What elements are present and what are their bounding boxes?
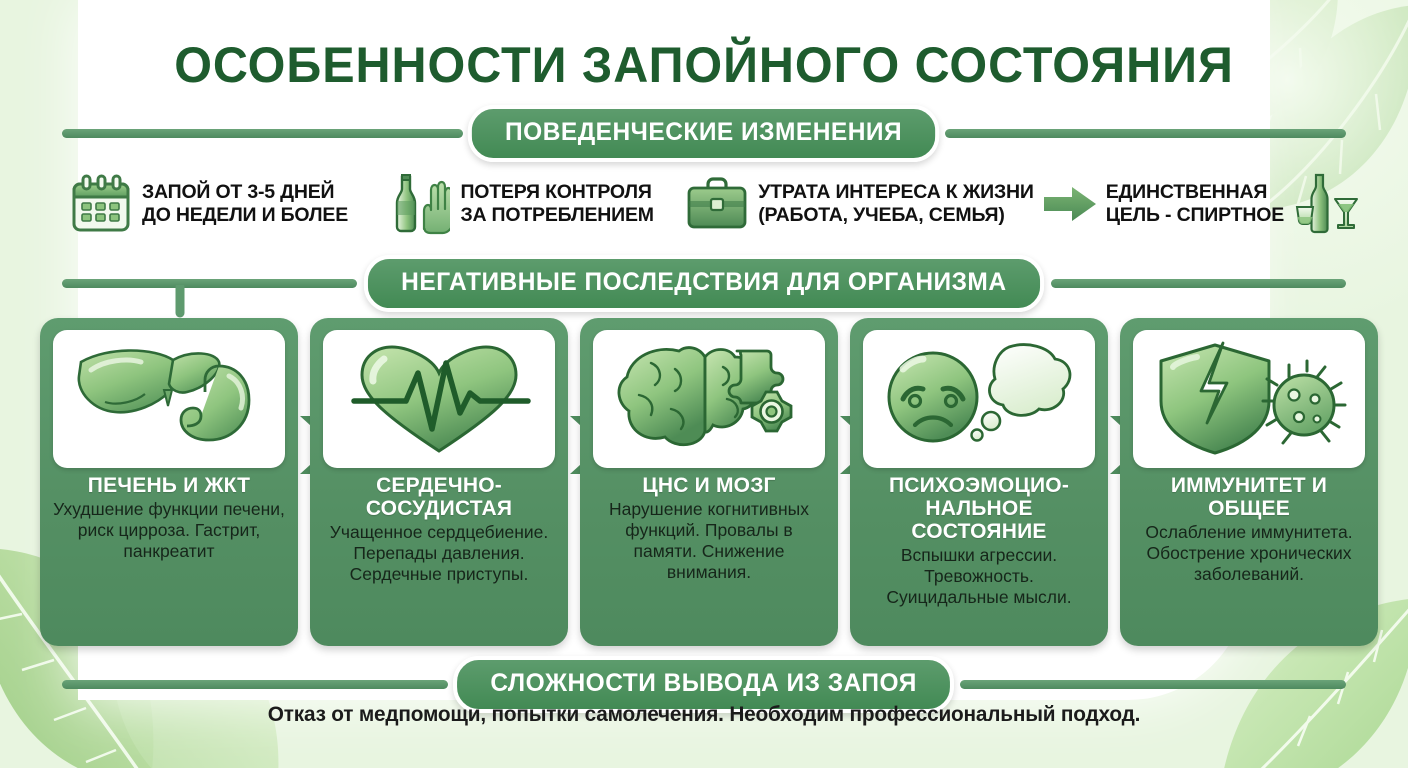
behavioral-item-1-text: ПОТЕРЯ КОНТРОЛЯ ЗА ПОТРЕБЛЕНИЕМ — [460, 181, 653, 227]
behavioral-item-1-line2: ЗА ПОТРЕБЛЕНИЕМ — [460, 204, 653, 227]
card-4-thumb — [1133, 330, 1365, 468]
card-3-thumb — [863, 330, 1095, 468]
rail-left-2 — [62, 279, 357, 288]
card-cns-brain[interactable]: ЦНС И МОЗГ Нарушение когнитивных функций… — [580, 318, 838, 646]
card-0-thumb — [53, 330, 285, 468]
page-title: ОСОБЕННОСТИ ЗАПОЙНОГО СОСТОЯНИЯ — [21, 36, 1387, 94]
heart-pulse-icon — [344, 339, 534, 459]
banner-behavioral-changes: ПОВЕДЕНЧЕСКИЕ ИЗМЕНЕНИЯ — [468, 105, 940, 162]
infographic-root: ОСОБЕННОСТИ ЗАПОЙНОГО СОСТОЯНИЯ ПОВЕДЕНЧ… — [0, 0, 1408, 768]
rail-right-3 — [960, 680, 1346, 689]
card-cardiovascular[interactable]: СЕРДЕЧНО-СОСУДИСТАЯ Учащенное сердцебиен… — [310, 318, 568, 646]
card-psychoemotional[interactable]: ПСИХОЭМОЦИО-НАЛЬНОЕ СОСТОЯНИЕ Вспышки аг… — [850, 318, 1108, 646]
briefcase-icon — [686, 176, 748, 232]
behavioral-item-0-line1: ЗАПОЙ ОТ 3-5 ДНЕЙ — [142, 181, 348, 204]
behavioral-item-0-text: ЗАПОЙ ОТ 3-5 ДНЕЙ ДО НЕДЕЛИ И БОЛЕЕ — [142, 181, 348, 227]
card-0-title: ПЕЧЕНЬ И ЖКТ — [50, 474, 288, 497]
card-1-body: Учащенное сердцебиение. Перепады давлени… — [320, 522, 558, 585]
behavioral-item-2: УТРАТА ИНТЕРЕСА К ЖИЗНИ (РАБОТА, УЧЕБА, … — [686, 176, 1033, 232]
card-4-title: ИММУНИТЕТ И ОБЩЕЕ — [1130, 474, 1368, 520]
calendar-icon — [70, 174, 132, 234]
behavioral-item-2-line1: УТРАТА ИНТЕРЕСА К ЖИЗНИ — [758, 181, 1033, 204]
behavioral-item-2-line2: (РАБОТА, УЧЕБА, СЕМЬЯ) — [758, 204, 1033, 227]
card-1-title: СЕРДЕЧНО-СОСУДИСТАЯ — [320, 474, 558, 520]
behavioral-item-0-line2: ДО НЕДЕЛИ И БОЛЕЕ — [142, 204, 348, 227]
behavioral-item-3-line2: ЦЕЛЬ - СПИРТНОЕ — [1106, 204, 1284, 227]
card-immunity[interactable]: ИММУНИТЕТ И ОБЩЕЕ Ослабление иммунитета.… — [1120, 318, 1378, 646]
behavioral-banner-row: ПОВЕДЕНЧЕСКИЕ ИЗМЕНЕНИЯ — [62, 105, 1346, 162]
broken-shield-virus-icon — [1149, 339, 1349, 459]
card-1-thumb — [323, 330, 555, 468]
card-4-body: Ослабление иммунитета. Обострение хронич… — [1130, 522, 1368, 585]
card-2-body: Нарушение когнитивных функций. Провалы в… — [590, 499, 828, 583]
behavioral-item-2-text: УТРАТА ИНТЕРЕСА К ЖИЗНИ (РАБОТА, УЧЕБА, … — [758, 181, 1033, 227]
rail-left — [62, 129, 463, 138]
card-3-body: Вспышки агрессии. Тревожность. Суицидаль… — [860, 545, 1098, 608]
behavioral-item-1-line1: ПОТЕРЯ КОНТРОЛЯ — [460, 181, 653, 204]
card-2-title: ЦНС И МОЗГ — [590, 474, 828, 497]
rail-right-2 — [1051, 279, 1346, 288]
card-liver-gi[interactable]: ПЕЧЕНЬ И ЖКТ Ухудшение функции печени, р… — [40, 318, 298, 646]
brain-gear-icon — [609, 339, 809, 459]
consequences-banner-row: НЕГАТИВНЫЕ ПОСЛЕДСТВИЯ ДЛЯ ОРГАНИЗМА — [62, 255, 1346, 312]
bottle-hand-icon — [380, 173, 450, 235]
behavioral-item-0: ЗАПОЙ ОТ 3-5 ДНЕЙ ДО НЕДЕЛИ И БОЛЕЕ — [70, 174, 348, 234]
behavioral-item-3-line1: ЕДИНСТВЕННАЯ — [1106, 181, 1284, 204]
behavioral-items-row: ЗАПОЙ ОТ 3-5 ДНЕЙ ДО НЕДЕЛИ И БОЛЕЕ — [70, 166, 1360, 242]
card-3-title: ПСИХОЭМОЦИО-НАЛЬНОЕ СОСТОЯНИЕ — [860, 474, 1098, 543]
angry-face-thought-icon — [879, 339, 1079, 459]
behavioral-item-3-text: ЕДИНСТВЕННАЯ ЦЕЛЬ - СПИРТНОЕ — [1106, 181, 1284, 227]
card-0-body: Ухудшение функции печени, риск цирроза. … — [50, 499, 288, 562]
banner-negative-consequences: НЕГАТИВНЫЕ ПОСЛЕДСТВИЯ ДЛЯ ОРГАНИЗМА — [364, 255, 1044, 312]
footer-note: Отказ от медпомощи, попытки самолечения.… — [7, 703, 1401, 727]
rail-right — [945, 129, 1346, 138]
arrow-right-icon — [1044, 186, 1096, 222]
behavioral-item-1: ПОТЕРЯ КОНТРОЛЯ ЗА ПОТРЕБЛЕНИЕМ — [380, 173, 653, 235]
card-2-thumb — [593, 330, 825, 468]
rail-left-3 — [62, 680, 448, 689]
consequences-cards: ПЕЧЕНЬ И ЖКТ Ухудшение функции печени, р… — [40, 318, 1370, 646]
liver-stomach-icon — [69, 340, 269, 458]
behavioral-item-3: ЕДИНСТВЕННАЯ ЦЕЛЬ - СПИРТНОЕ — [1106, 173, 1360, 235]
bottle-glasses-icon — [1294, 173, 1360, 235]
